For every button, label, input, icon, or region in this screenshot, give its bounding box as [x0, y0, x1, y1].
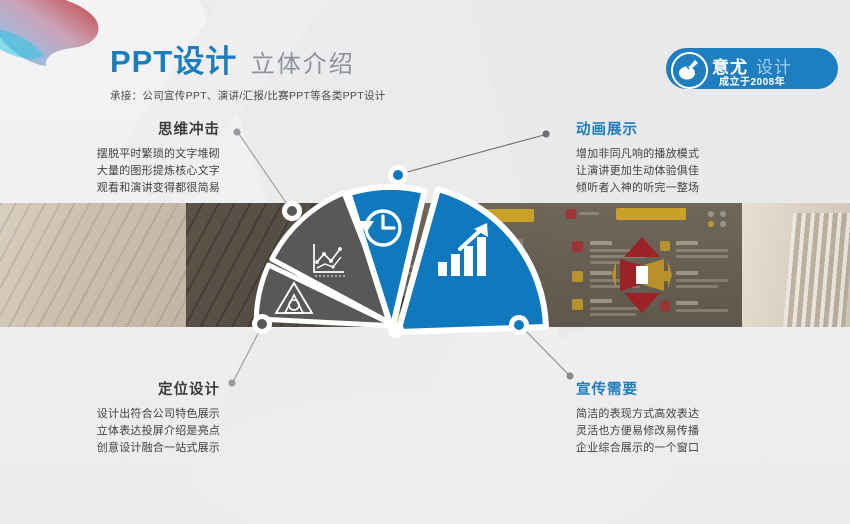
- callout-positioning-design: 定位设计 设计出符合公司特色展示 立体表达投屏介绍是亮点 创意设计融合一站式展示: [60, 378, 220, 457]
- callout-line: 摆脱平时繁琐的文字堆砌: [60, 146, 220, 163]
- callout-title: 宣传需要: [576, 378, 756, 399]
- page-title-sub: 立体介绍: [251, 44, 355, 79]
- callout-animation-display: 动画展示 增加非同凡响的播放模式 让演讲更加生动体验俱佳 倾听者入神的听完一整场: [576, 118, 756, 197]
- mouse-pen-circle-icon: [671, 52, 708, 89]
- callout-line: 让演讲更加生动体验俱佳: [576, 163, 756, 180]
- callout-promotion-need: 宣传需要 简洁的表现方式高效表达 灵活也方便易修改易传播 企业综合展示的一个窗口: [576, 378, 756, 457]
- logo-established: 成立于2008年: [719, 73, 785, 88]
- callout-line: 观看和演讲变得都很简易: [60, 180, 220, 197]
- callout-thinking-impact: 思维冲击 摆脱平时繁琐的文字堆砌 大量的图形提炼核心文字 观看和演讲变得都很简易: [60, 118, 220, 197]
- callout-line: 倾听者入神的听完一整场: [576, 180, 756, 197]
- building-photo-right: [742, 203, 850, 327]
- page-subtitle: 承接：公司宣传PPT、演讲/汇报/比赛PPT等各类PPT设计: [110, 88, 386, 103]
- slide-preview-right: [548, 203, 742, 327]
- slide-canvas: PPT设计 立体介绍 承接：公司宣传PPT、演讲/汇报/比赛PPT等各类PPT设…: [0, 0, 850, 524]
- callout-line: 增加非同凡响的播放模式: [576, 146, 756, 163]
- callout-line: 创意设计融合一站式展示: [60, 440, 220, 457]
- callout-line: 灵活也方便易修改易传播: [576, 423, 756, 440]
- callout-line: 设计出符合公司特色展示: [60, 406, 220, 423]
- wood-texture-dark: [186, 203, 322, 327]
- wood-texture-left: [0, 203, 186, 327]
- slide-preview-left: [322, 203, 548, 327]
- brand-logo[interactable]: 意尤 设计 成立于2008年: [666, 48, 838, 89]
- background-photo-strip: [0, 203, 850, 327]
- callout-line: 简洁的表现方式高效表达: [576, 406, 756, 423]
- callout-line: 企业综合展示的一个窗口: [576, 440, 756, 457]
- callout-title: 定位设计: [60, 378, 220, 399]
- callout-line: 立体表达投屏介绍是亮点: [60, 423, 220, 440]
- callout-line: 大量的图形提炼核心文字: [60, 163, 220, 180]
- callout-title: 思维冲击: [60, 118, 220, 139]
- page-title-group: PPT设计 立体介绍 承接：公司宣传PPT、演讲/汇报/比赛PPT等各类PPT设…: [110, 44, 386, 103]
- callout-title: 动画展示: [576, 118, 756, 139]
- page-title-main: PPT设计: [110, 46, 237, 77]
